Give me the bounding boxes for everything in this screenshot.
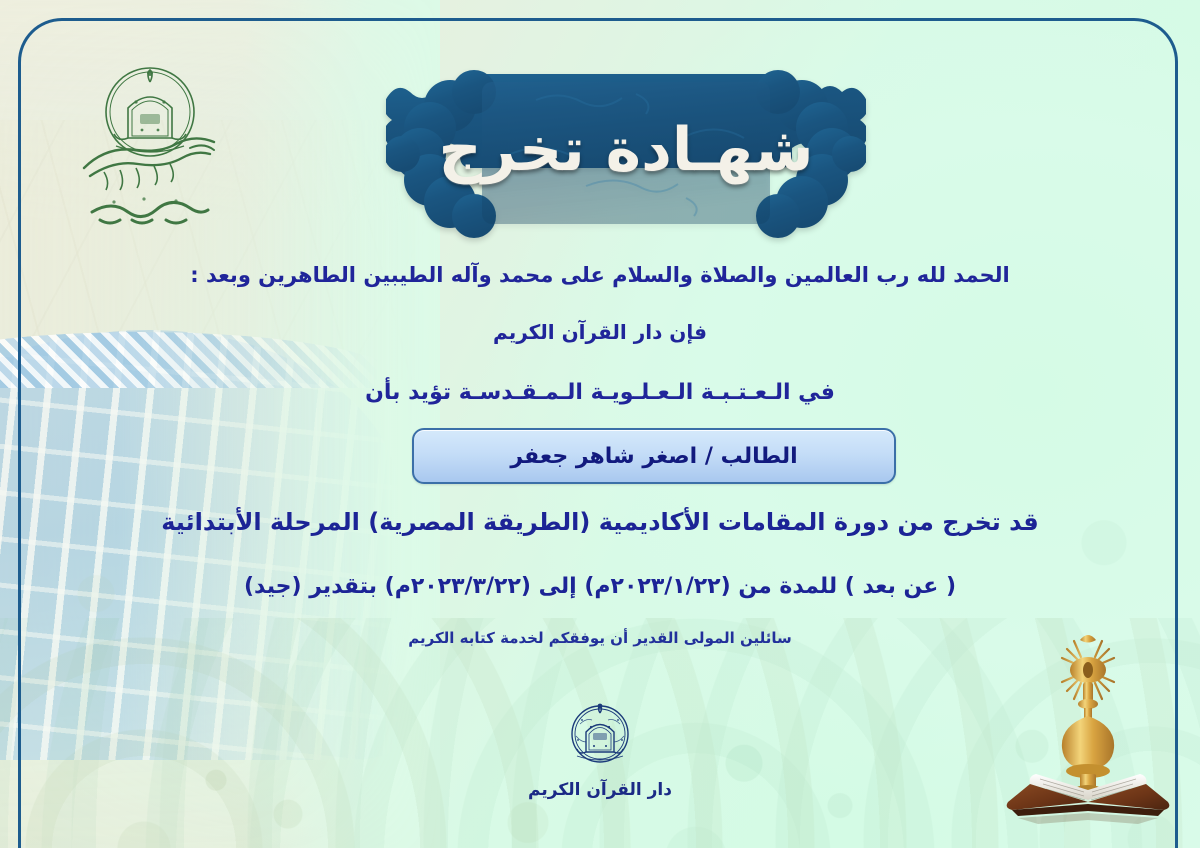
dar-alquran-seal-icon <box>564 698 636 770</box>
title-banner: شهـادة تخرج <box>386 66 866 241</box>
certificate-page: شهـادة تخرج الحمد لله رب العالمين والصلا… <box>0 0 1200 848</box>
footer-caption: دار القرآن الكريم <box>528 780 672 800</box>
period-line: ( عن بعد ) للمدة من (٢٠٢٣/١/٢٢م) إلى (٢٠… <box>0 574 1200 599</box>
student-name: الطالب / اصغر شاهر جعفر <box>510 444 797 469</box>
certificate-title: شهـادة تخرج <box>386 66 866 241</box>
institution-logo <box>70 52 230 232</box>
body-line-institution: فإن دار القرآن الكريم <box>0 320 1200 345</box>
course-line: قد تخرج من دورة المقامات الأكاديمية (الط… <box>0 508 1200 536</box>
certificate-body: الحمد لله رب العالمين والصلاة والسلام عل… <box>0 262 1200 417</box>
student-name-box: الطالب / اصغر شاهر جعفر <box>412 428 896 484</box>
body-line-shrine: في الـعـتـبـة الـعـلـويـة الـمـقـدسـة تؤ… <box>0 379 1200 407</box>
quran-rehal-ornament-icon <box>988 624 1188 824</box>
body-line-praise: الحمد لله رب العالمين والصلاة والسلام عل… <box>0 262 1200 288</box>
